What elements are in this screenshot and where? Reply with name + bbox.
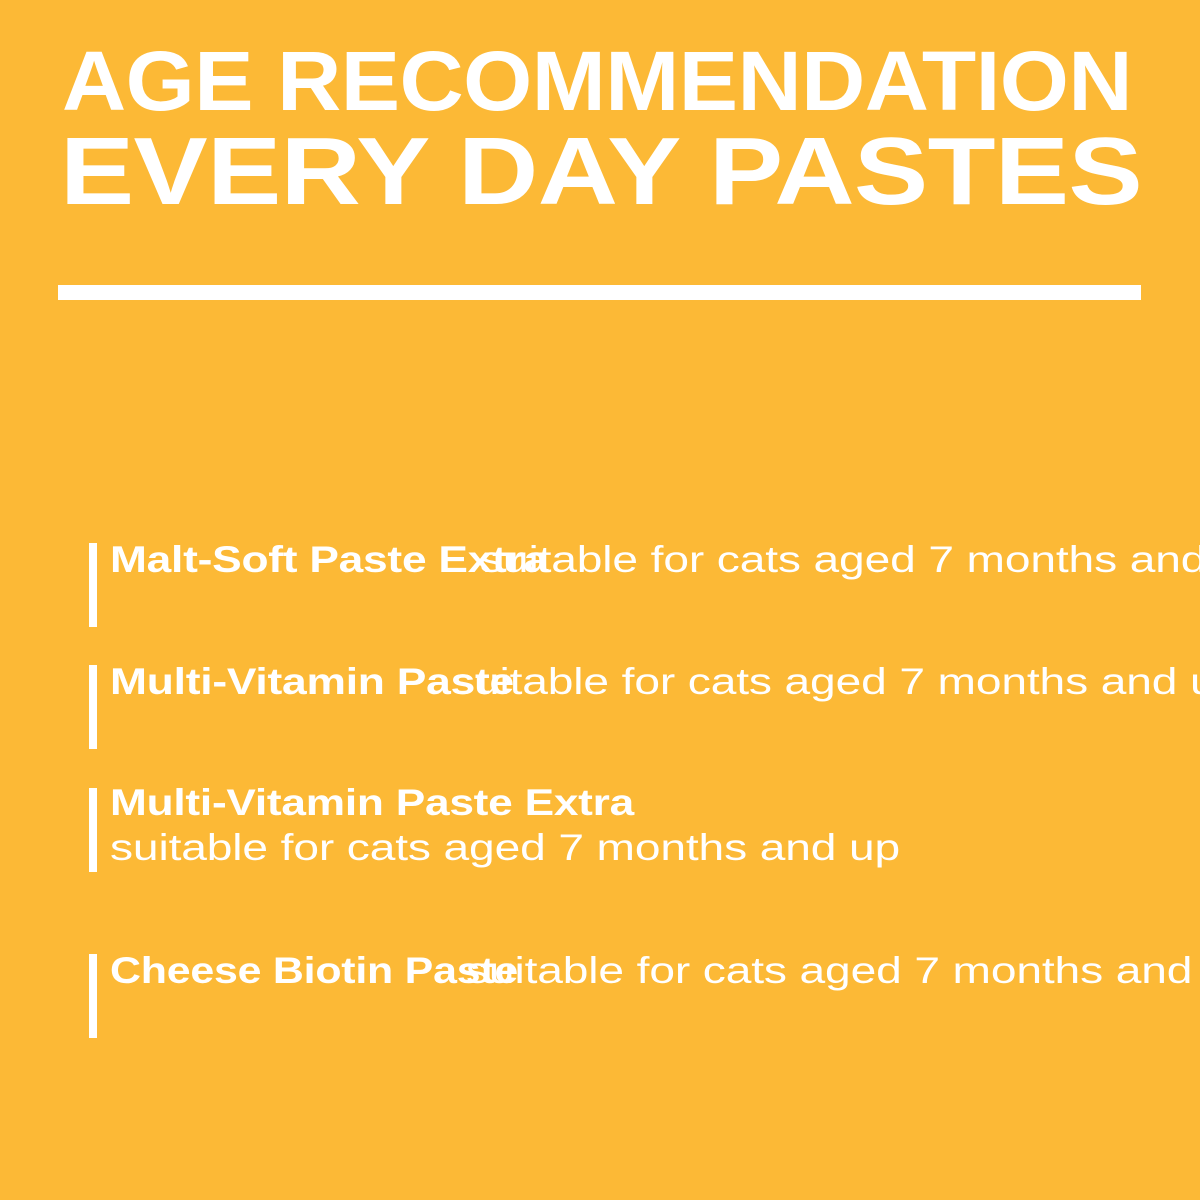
page-title-line-2-text: EVERY DAY PASTES [60,126,1142,217]
list-item: Malt-Soft Paste Extra suitable for cats … [89,536,1129,582]
list-item: Multi-Vitamin Paste suitable for cats ag… [89,658,1129,704]
product-age-recommendation: suitable for cats aged 7 months and up [110,826,900,870]
item-accent-bar-icon [89,665,97,749]
title-divider [58,285,1141,300]
item-accent-bar-icon [89,788,97,872]
item-accent-bar-icon [89,954,97,1038]
product-list: Malt-Soft Paste Extra suitable for cats … [89,536,1129,993]
item-accent-bar-icon [89,543,97,627]
page-title-line-1: AGE RECOMMENDATION [62,42,1144,122]
list-item: Cheese Biotin Paste suitable for cats ag… [89,947,1129,993]
page-title: AGE RECOMMENDATION EVERY DAY PASTES [58,42,1144,217]
page-title-line-1-text: AGE RECOMMENDATION [62,42,1132,122]
page-title-line-2: EVERY DAY PASTES [60,126,1144,217]
product-age-recommendation: suitable for cats aged 7 months and up [466,949,1200,993]
list-item: Multi-Vitamin Paste Extra suitable for c… [89,781,1129,871]
product-age-recommendation: suitable for cats aged 7 months and up [451,660,1200,704]
product-name: Multi-Vitamin Paste Extra [110,781,634,825]
product-name: Cheese Biotin Paste [110,949,518,993]
product-age-recommendation: suitable for cats aged 7 months and up [480,538,1200,582]
poster-root: AGE RECOMMENDATION EVERY DAY PASTES Malt… [0,0,1200,1200]
